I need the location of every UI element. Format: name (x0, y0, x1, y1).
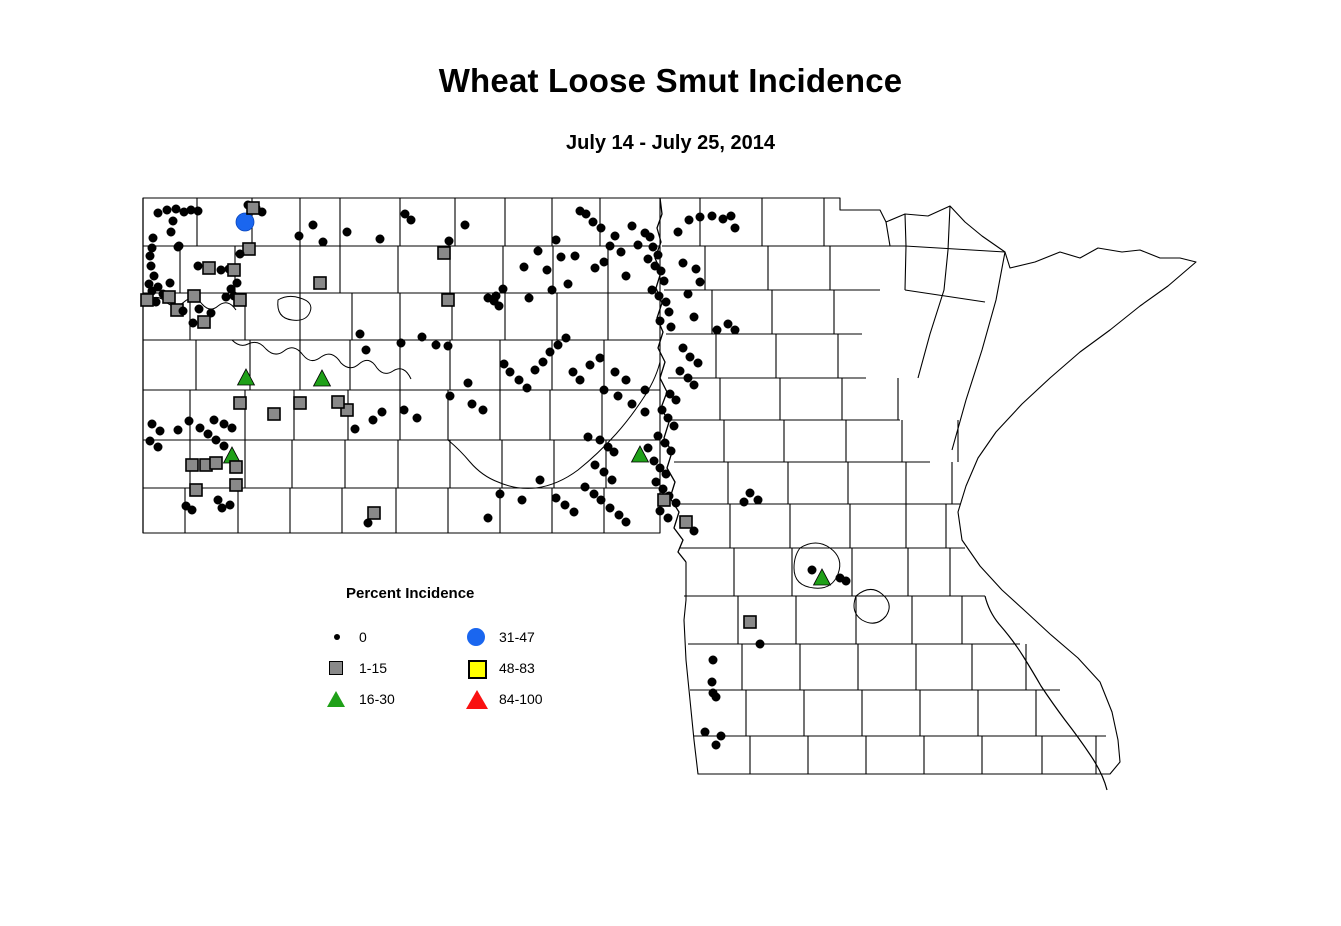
incidence-point-0[interactable] (708, 678, 716, 686)
incidence-point-0[interactable] (649, 243, 657, 251)
incidence-point-0[interactable] (506, 368, 514, 376)
incidence-point-0[interactable] (156, 427, 164, 435)
incidence-point-0[interactable] (754, 496, 762, 504)
incidence-point-0[interactable] (351, 425, 359, 433)
incidence-point-1to15[interactable] (332, 396, 344, 408)
incidence-point-0[interactable] (684, 374, 692, 382)
incidence-point-0[interactable] (600, 258, 608, 266)
incidence-point-0[interactable] (518, 496, 526, 504)
incidence-point-0[interactable] (147, 262, 155, 270)
incidence-point-0[interactable] (210, 416, 218, 424)
legend-label-1: 1-15 (359, 660, 387, 676)
incidence-point-0[interactable] (228, 424, 236, 432)
incidence-point-0[interactable] (731, 326, 739, 334)
incidence-point-0[interactable] (628, 400, 636, 408)
incidence-point-0[interactable] (167, 228, 175, 236)
incidence-point-0[interactable] (596, 354, 604, 362)
incidence-point-0[interactable] (188, 506, 196, 514)
incidence-point-0[interactable] (727, 212, 735, 220)
incidence-point-0[interactable] (400, 406, 408, 414)
incidence-point-0[interactable] (356, 330, 364, 338)
incidence-point-0[interactable] (479, 406, 487, 414)
incidence-point-0[interactable] (596, 436, 604, 444)
incidence-point-0[interactable] (531, 366, 539, 374)
incidence-point-0[interactable] (690, 381, 698, 389)
incidence-point-1to15[interactable] (744, 616, 756, 628)
incidence-point-16to30[interactable] (314, 370, 331, 386)
incidence-point-0[interactable] (712, 693, 720, 701)
incidence-point-0[interactable] (667, 323, 675, 331)
incidence-point-0[interactable] (611, 232, 619, 240)
incidence-point-0[interactable] (376, 235, 384, 243)
incidence-point-0[interactable] (808, 566, 816, 574)
county-map-svg (0, 0, 1341, 926)
incidence-point-0[interactable] (552, 494, 560, 502)
incidence-point-0[interactable] (656, 317, 664, 325)
incidence-point-1to15[interactable] (243, 243, 255, 255)
incidence-point-1to15[interactable] (658, 494, 670, 506)
incidence-point-1to15[interactable] (186, 459, 198, 471)
incidence-point-0[interactable] (520, 263, 528, 271)
incidence-point-0[interactable] (600, 386, 608, 394)
incidence-point-0[interactable] (523, 384, 531, 392)
incidence-point-0[interactable] (615, 511, 623, 519)
incidence-point-1to15[interactable] (190, 484, 202, 496)
incidence-point-0[interactable] (652, 478, 660, 486)
incidence-point-0[interactable] (552, 236, 560, 244)
legend-label-5: 84-100 (499, 691, 543, 707)
incidence-point-0[interactable] (204, 430, 212, 438)
incidence-point-0[interactable] (218, 504, 226, 512)
incidence-point-0[interactable] (484, 514, 492, 522)
incidence-point-0[interactable] (622, 518, 630, 526)
incidence-point-1to15[interactable] (247, 202, 259, 214)
incidence-point-0[interactable] (692, 265, 700, 273)
incidence-point-1to15[interactable] (680, 516, 692, 528)
incidence-point-0[interactable] (670, 422, 678, 430)
incidence-point-0[interactable] (656, 507, 664, 515)
incidence-point-0[interactable] (591, 264, 599, 272)
incidence-point-0[interactable] (661, 439, 669, 447)
incidence-point-0[interactable] (445, 237, 453, 245)
incidence-point-1to15[interactable] (314, 277, 326, 289)
incidence-point-0[interactable] (660, 277, 668, 285)
incidence-point-0[interactable] (515, 376, 523, 384)
incidence-point-0[interactable] (217, 266, 225, 274)
incidence-point-0[interactable] (650, 457, 658, 465)
incidence-point-0[interactable] (220, 420, 228, 428)
incidence-point-0[interactable] (179, 307, 187, 315)
blue-circle-icon (465, 627, 493, 647)
incidence-point-0[interactable] (644, 444, 652, 452)
incidence-point-0[interactable] (444, 342, 452, 350)
incidence-point-1to15[interactable] (228, 264, 240, 276)
incidence-point-0[interactable] (597, 496, 605, 504)
incidence-point-0[interactable] (646, 233, 654, 241)
incidence-point-0[interactable] (148, 420, 156, 428)
incidence-point-0[interactable] (740, 498, 748, 506)
incidence-point-0[interactable] (172, 205, 180, 213)
incidence-point-0[interactable] (690, 527, 698, 535)
incidence-point-1to15[interactable] (210, 457, 222, 469)
incidence-point-0[interactable] (432, 341, 440, 349)
incidence-point-0[interactable] (641, 386, 649, 394)
incidence-point-16to30[interactable] (238, 369, 255, 385)
incidence-point-0[interactable] (610, 448, 618, 456)
green-triangle-icon (325, 689, 353, 709)
incidence-point-0[interactable] (378, 408, 386, 416)
incidence-point-0[interactable] (496, 490, 504, 498)
incidence-point-0[interactable] (189, 319, 197, 327)
incidence-point-0[interactable] (220, 442, 228, 450)
incidence-point-0[interactable] (461, 221, 469, 229)
incidence-point-0[interactable] (561, 501, 569, 509)
incidence-point-0[interactable] (606, 504, 614, 512)
incidence-point-0[interactable] (174, 426, 182, 434)
incidence-point-0[interactable] (713, 326, 721, 334)
incidence-point-0[interactable] (690, 313, 698, 321)
incidence-point-1to15[interactable] (188, 290, 200, 302)
incidence-point-0[interactable] (295, 232, 303, 240)
incidence-point-0[interactable] (569, 368, 577, 376)
incidence-point-0[interactable] (657, 267, 665, 275)
incidence-point-0[interactable] (709, 656, 717, 664)
incidence-point-0[interactable] (464, 379, 472, 387)
incidence-point-1to15[interactable] (294, 397, 306, 409)
incidence-point-0[interactable] (492, 292, 500, 300)
incidence-point-0[interactable] (664, 414, 672, 422)
incidence-point-1to15[interactable] (442, 294, 454, 306)
incidence-point-1to15[interactable] (163, 291, 175, 303)
incidence-point-0[interactable] (756, 640, 764, 648)
incidence-point-0[interactable] (597, 224, 605, 232)
incidence-point-0[interactable] (731, 224, 739, 232)
incidence-point-0[interactable] (166, 279, 174, 287)
incidence-point-0[interactable] (672, 499, 680, 507)
incidence-point-0[interactable] (608, 476, 616, 484)
incidence-point-0[interactable] (369, 416, 377, 424)
incidence-point-0[interactable] (146, 437, 154, 445)
incidence-point-0[interactable] (701, 728, 709, 736)
incidence-point-0[interactable] (169, 217, 177, 225)
incidence-point-0[interactable] (719, 215, 727, 223)
incidence-point-0[interactable] (674, 228, 682, 236)
incidence-point-0[interactable] (611, 368, 619, 376)
incidence-point-0[interactable] (309, 221, 317, 229)
legend-title: Percent Incidence (346, 585, 474, 602)
incidence-point-0[interactable] (679, 344, 687, 352)
incidence-point-0[interactable] (672, 396, 680, 404)
incidence-point-0[interactable] (195, 305, 203, 313)
incidence-point-0[interactable] (684, 290, 692, 298)
incidence-point-0[interactable] (154, 443, 162, 451)
incidence-point-0[interactable] (686, 353, 694, 361)
legend-label-4: 48-83 (499, 660, 535, 676)
incidence-point-0[interactable] (570, 508, 578, 516)
incidence-point-0[interactable] (708, 212, 716, 220)
incidence-point-0[interactable] (557, 253, 565, 261)
incidence-point-1to15[interactable] (438, 247, 450, 259)
legend-label-0: 0 (359, 629, 367, 645)
incidence-point-0[interactable] (534, 247, 542, 255)
incidence-point-31to47[interactable] (236, 213, 254, 231)
incidence-point-0[interactable] (614, 392, 622, 400)
incidence-point-0[interactable] (397, 339, 405, 347)
incidence-point-0[interactable] (582, 210, 590, 218)
incidence-point-0[interactable] (654, 432, 662, 440)
incidence-point-1to15[interactable] (141, 294, 153, 306)
map-page: Wheat Loose Smut Incidence July 14 - Jul… (0, 0, 1341, 926)
incidence-point-0[interactable] (525, 294, 533, 302)
incidence-point-0[interactable] (446, 392, 454, 400)
incidence-point-0[interactable] (185, 417, 193, 425)
incidence-point-0[interactable] (343, 228, 351, 236)
incidence-point-0[interactable] (662, 470, 670, 478)
incidence-point-0[interactable] (148, 244, 156, 252)
incidence-point-0[interactable] (617, 248, 625, 256)
incidence-point-0[interactable] (589, 218, 597, 226)
incidence-point-0[interactable] (667, 447, 675, 455)
incidence-point-0[interactable] (226, 501, 234, 509)
legend: Percent Incidence 0 1-15 16-30 31-47 48-… (325, 585, 585, 710)
incidence-point-0[interactable] (364, 519, 372, 527)
incidence-point-0[interactable] (662, 298, 670, 306)
incidence-point-0[interactable] (163, 206, 171, 214)
incidence-point-0[interactable] (150, 272, 158, 280)
incidence-point-0[interactable] (407, 216, 415, 224)
incidence-point-0[interactable] (500, 360, 508, 368)
incidence-point-0[interactable] (319, 238, 327, 246)
small-black-dot-icon (325, 627, 353, 647)
map-canvas (0, 0, 1341, 926)
incidence-point-0[interactable] (694, 359, 702, 367)
incidence-point-0[interactable] (696, 278, 704, 286)
incidence-point-0[interactable] (236, 250, 244, 258)
incidence-point-0[interactable] (622, 376, 630, 384)
incidence-point-0[interactable] (659, 485, 667, 493)
incidence-point-0[interactable] (154, 283, 162, 291)
incidence-point-0[interactable] (146, 252, 154, 260)
incidence-point-0[interactable] (548, 286, 556, 294)
incidence-point-0[interactable] (576, 376, 584, 384)
incidence-point-0[interactable] (634, 241, 642, 249)
legend-label-2: 16-30 (359, 691, 395, 707)
incidence-point-0[interactable] (664, 514, 672, 522)
red-triangle-icon (465, 689, 493, 709)
incidence-point-1to15[interactable] (268, 408, 280, 420)
incidence-point-1to15[interactable] (368, 507, 380, 519)
incidence-point-0[interactable] (685, 216, 693, 224)
incidence-point-0[interactable] (658, 406, 666, 414)
incidence-point-0[interactable] (591, 461, 599, 469)
incidence-point-0[interactable] (468, 400, 476, 408)
incidence-point-0[interactable] (724, 320, 732, 328)
incidence-point-0[interactable] (546, 348, 554, 356)
incidence-point-0[interactable] (554, 341, 562, 349)
incidence-point-0[interactable] (543, 266, 551, 274)
incidence-point-0[interactable] (539, 358, 547, 366)
incidence-point-0[interactable] (606, 242, 614, 250)
incidence-point-1to15[interactable] (198, 316, 210, 328)
incidence-point-0[interactable] (648, 286, 656, 294)
incidence-point-0[interactable] (212, 436, 220, 444)
incidence-point-0[interactable] (622, 272, 630, 280)
incidence-point-0[interactable] (222, 293, 230, 301)
incidence-point-1to15[interactable] (230, 479, 242, 491)
incidence-point-0[interactable] (362, 346, 370, 354)
incidence-point-0[interactable] (154, 209, 162, 217)
incidence-point-0[interactable] (644, 255, 652, 263)
incidence-point-0[interactable] (194, 207, 202, 215)
incidence-point-0[interactable] (149, 234, 157, 242)
incidence-point-1to15[interactable] (203, 262, 215, 274)
incidence-point-0[interactable] (174, 243, 182, 251)
incidence-point-0[interactable] (584, 433, 592, 441)
incidence-point-0[interactable] (571, 252, 579, 260)
incidence-point-0[interactable] (495, 302, 503, 310)
incidence-point-0[interactable] (679, 259, 687, 267)
incidence-point-0[interactable] (194, 262, 202, 270)
incidence-point-0[interactable] (564, 280, 572, 288)
incidence-point-0[interactable] (696, 213, 704, 221)
incidence-point-0[interactable] (214, 496, 222, 504)
incidence-point-0[interactable] (665, 308, 673, 316)
legend-label-3: 31-47 (499, 629, 535, 645)
incidence-point-0[interactable] (746, 489, 754, 497)
incidence-point-0[interactable] (499, 285, 507, 293)
incidence-point-0[interactable] (717, 732, 725, 740)
incidence-point-0[interactable] (586, 361, 594, 369)
incidence-point-0[interactable] (418, 333, 426, 341)
incidence-point-1to15[interactable] (230, 461, 242, 473)
incidence-point-0[interactable] (581, 483, 589, 491)
incidence-point-0[interactable] (654, 251, 662, 259)
yellow-square-icon (465, 658, 493, 678)
incidence-point-0[interactable] (590, 490, 598, 498)
gray-square-icon (325, 658, 353, 678)
incidence-point-0[interactable] (676, 367, 684, 375)
incidence-point-0[interactable] (712, 741, 720, 749)
incidence-point-1to15[interactable] (234, 397, 246, 409)
incidence-point-0[interactable] (600, 468, 608, 476)
incidence-point-0[interactable] (641, 408, 649, 416)
incidence-point-0[interactable] (562, 334, 570, 342)
incidence-point-0[interactable] (536, 476, 544, 484)
incidence-point-0[interactable] (413, 414, 421, 422)
incidence-point-1to15[interactable] (234, 294, 246, 306)
incidence-point-0[interactable] (628, 222, 636, 230)
incidence-point-0[interactable] (655, 292, 663, 300)
incidence-point-0[interactable] (842, 577, 850, 585)
incidence-point-0[interactable] (196, 424, 204, 432)
